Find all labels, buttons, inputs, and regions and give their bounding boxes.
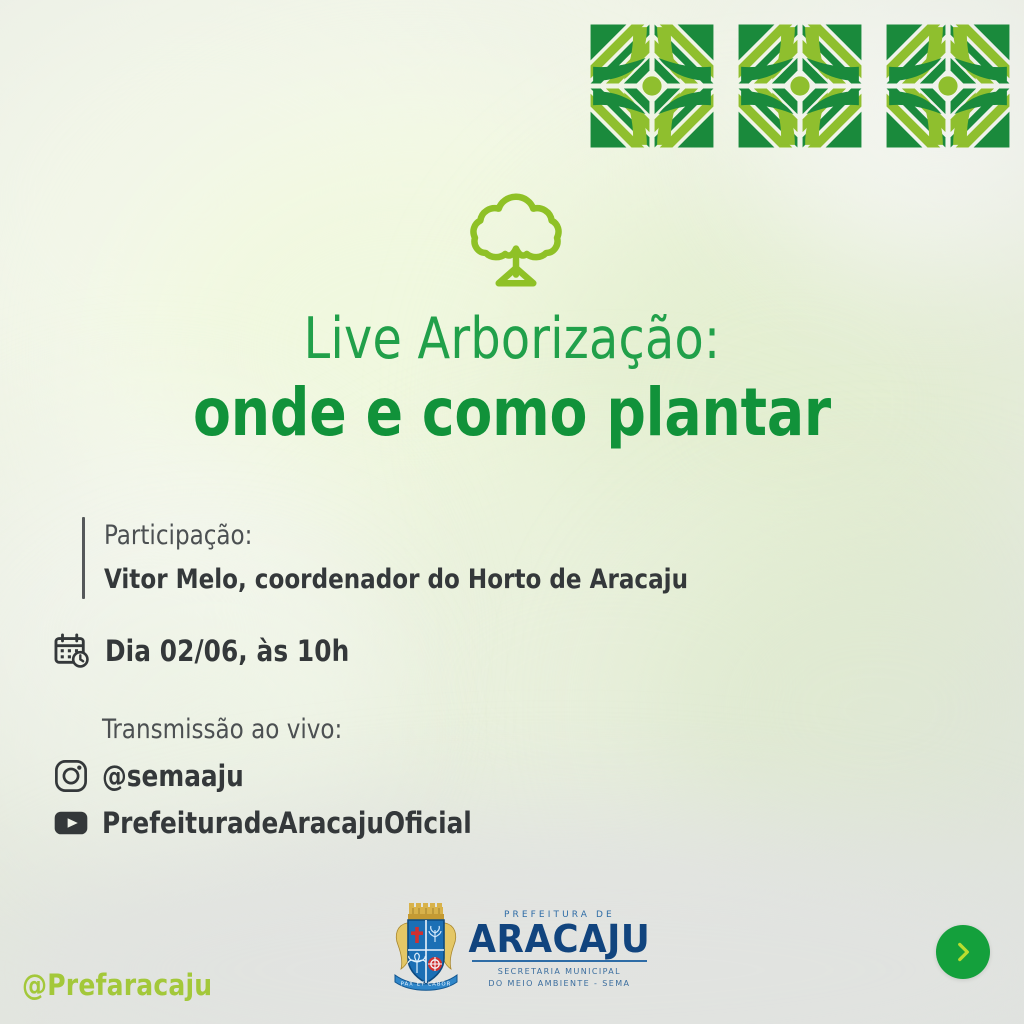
date-text: Dia 02/06, às 10h [105,634,349,668]
next-button[interactable] [936,925,990,979]
poster-canvas: Live Arborização: onde e como plantar Pa… [0,0,1024,1024]
title-block: Live Arborização: onde e como plantar [0,310,1024,450]
chevron-right-icon[interactable] [950,939,976,965]
broadcast-channel-instagram[interactable]: @semaaju [53,758,491,794]
title-line-1: Live Arborização: [36,310,988,370]
floral-tile-icon [588,22,716,150]
logo-wordmark: PREFEITURA DE ARACAJU SECRETARIA MUNICIP… [472,910,647,989]
aracaju-coat-of-arms-icon: PAX ET LABOR [389,903,463,995]
participation-speaker: Vitor Melo, coordenador do Horto de Arac… [104,560,688,599]
title-line-2: onde e como plantar [36,376,988,450]
youtube-icon[interactable] [53,805,89,841]
calendar-clock-icon [53,632,91,670]
instagram-handle[interactable]: @semaaju [102,759,244,793]
youtube-handle[interactable]: PrefeituradeAracajuOficial [102,806,472,840]
social-handle: @Prefaracaju [22,968,212,1002]
footer-logo: PAX ET LABOR PREFEITURA DE ARACAJU SECRE… [389,903,647,995]
floral-tile-icon [736,22,864,150]
logo-department-line-2: DO MEIO AMBIENTE - SEMA [488,979,630,988]
logo-department-line-1: SECRETARIA MUNICIPAL [498,967,621,976]
floral-tile-icon [884,22,1012,150]
broadcast-label: Transmissão ao vivo: [102,712,472,747]
background-vignette [0,0,1024,1024]
vertical-rule [82,517,85,599]
crest-motto: PAX ET LABOR [401,981,452,987]
broadcast-block: Transmissão ao vivo: @semaaju Prefeitura… [53,712,491,841]
broadcast-channel-youtube[interactable]: PrefeituradeAracajuOficial [53,805,491,841]
logo-department: SECRETARIA MUNICIPAL DO MEIO AMBIENTE - … [488,966,630,989]
participation-label: Participação: [104,517,688,555]
logo-city-name: ARACAJU [469,921,651,957]
participation-block: Participação: Vitor Melo, coordenador do… [82,517,719,599]
ornament-band [588,22,1012,150]
tree-icon [462,186,570,294]
date-row: Dia 02/06, às 10h [53,632,362,670]
instagram-icon[interactable] [53,758,89,794]
